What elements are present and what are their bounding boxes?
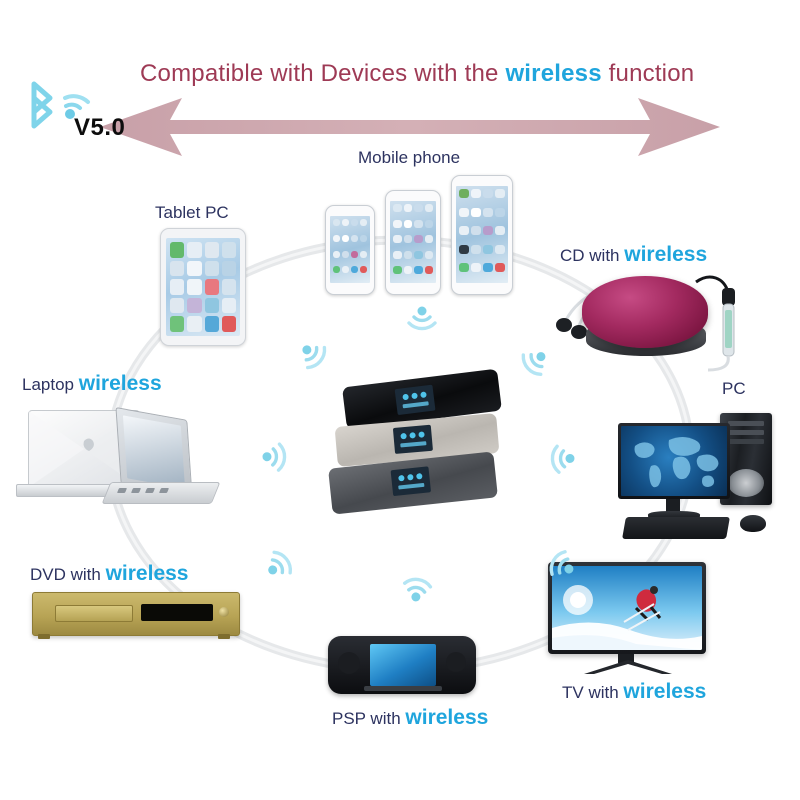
pc-mouse	[740, 515, 766, 532]
wifi-icon	[405, 302, 439, 336]
psp-screen	[370, 644, 436, 686]
psp-dpad	[338, 652, 360, 674]
device-laptop	[10, 400, 220, 518]
laptop-open-base	[102, 482, 221, 504]
bluetooth-version-label: V5.0	[74, 114, 125, 142]
tv-stand	[582, 658, 674, 676]
tv-screen	[552, 566, 702, 650]
label-pc: PC	[722, 379, 746, 399]
label-laptop-highlight: wireless	[79, 372, 162, 395]
label-psp-highlight: wireless	[405, 706, 488, 729]
label-tv-text: TV with	[562, 683, 619, 702]
device-phone-medium	[385, 190, 441, 295]
label-dvd: DVD with wireless	[30, 562, 189, 586]
label-laptop-text: Laptop	[22, 375, 74, 394]
device-cd-player	[560, 262, 735, 372]
pc-monitor-screen	[621, 426, 727, 496]
psp-bottom-bar	[364, 686, 442, 691]
device-dvd-player	[32, 592, 240, 636]
title-text-after: function	[609, 60, 695, 87]
tablet-screen	[166, 238, 240, 336]
infographic-canvas: Compatible with Devices with the wireles…	[0, 0, 800, 800]
psp-buttons	[446, 652, 466, 672]
dvd-display	[141, 604, 213, 621]
dvd-foot-left	[38, 634, 50, 639]
label-tablet-text: Tablet PC	[155, 203, 229, 222]
cd-remote-icon	[678, 266, 748, 376]
pc-monitor	[618, 423, 730, 499]
title-text-before: Compatible with Devices with the	[140, 60, 499, 87]
title-highlight: wireless	[505, 60, 601, 87]
label-mobile: Mobile phone	[358, 148, 460, 168]
headband-dark-gray-panel	[391, 466, 432, 496]
device-phone-small	[325, 205, 375, 295]
phone-small-screen	[330, 216, 370, 283]
world-map-graphic	[621, 426, 727, 496]
wifi-icon	[544, 441, 580, 477]
label-psp-text: PSP with	[332, 709, 401, 728]
label-mobile-text: Mobile phone	[358, 148, 460, 167]
device-phone-large	[451, 175, 513, 295]
device-tablet	[160, 228, 246, 346]
page-title: Compatible with Devices with the wireles…	[140, 60, 760, 88]
label-pc-text: PC	[722, 379, 746, 398]
label-laptop: Laptop wireless	[22, 372, 162, 396]
device-psp	[328, 636, 476, 694]
label-dvd-text: DVD with	[30, 565, 101, 584]
dvd-knob	[219, 607, 229, 617]
wifi-icon	[398, 570, 436, 608]
bluetooth-badge: V5.0	[12, 78, 162, 158]
dvd-foot-right	[218, 634, 230, 639]
label-tv: TV with wireless	[562, 680, 706, 704]
skier-graphic	[552, 566, 702, 650]
phone-large-screen	[456, 186, 508, 283]
pc-keyboard	[622, 517, 730, 539]
label-psp: PSP with wireless	[332, 706, 488, 730]
headband-light-gray-panel	[393, 425, 433, 454]
label-dvd-highlight: wireless	[106, 562, 189, 585]
label-tv-highlight: wireless	[623, 680, 706, 703]
wifi-icon	[257, 439, 292, 474]
headband-black-panel	[395, 385, 436, 415]
label-tablet: Tablet PC	[155, 203, 229, 223]
device-pc	[612, 405, 790, 540]
product-headbands	[330, 378, 510, 528]
dvd-tray	[55, 605, 133, 622]
phone-medium-screen	[390, 201, 436, 283]
laptop-open-screen	[123, 415, 185, 488]
